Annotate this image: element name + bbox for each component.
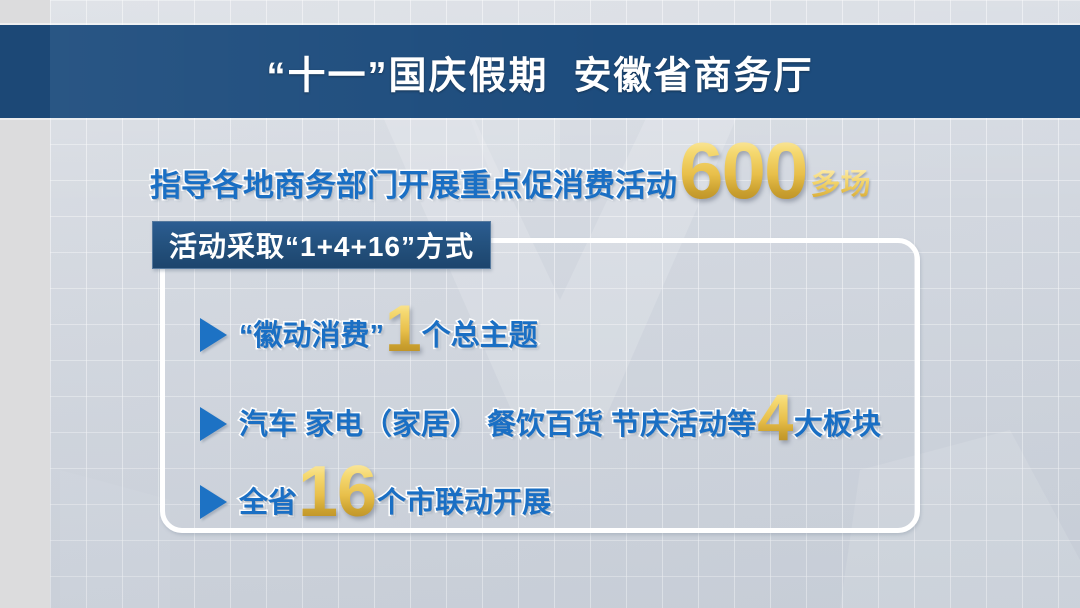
list-item-suffix: 个总主题 [422,322,538,356]
list-item: 全省 16 个市联动开展 [200,463,551,523]
list-item-number: 4 [757,389,793,445]
list-item-prefix: “徽动消费” [239,322,384,356]
list-item: “徽动消费” 1 个总主题 [200,296,538,356]
list-item-prefix: 汽车 家电（家居） 餐饮百货 节庆活动等 [239,411,756,445]
list-item-prefix: 全省 [239,489,297,523]
headline-number: 600 [679,137,806,205]
triangle-bullet-icon [200,318,227,352]
broadcast-graphic-screen: “十一”国庆假期 安徽省商务厅 指导各地商务部门开展重点促消费活动 600 多场… [0,0,1080,608]
section-tag: 活动采取“1+4+16”方式 [152,221,491,269]
headline-row: 指导各地商务部门开展重点促消费活动 600 多场 [150,143,970,205]
page-title: “十一”国庆假期 安徽省商务厅 [0,44,1080,99]
list-item: 汽车 家电（家居） 餐饮百货 节庆活动等 4 大板块 [200,385,881,445]
list-item-number: 16 [298,462,376,523]
list-item-number: 1 [385,300,421,356]
list-item-suffix: 个市联动开展 [377,489,551,523]
title-bar: “十一”国庆假期 安徽省商务厅 [0,25,1080,118]
triangle-bullet-icon [200,485,227,519]
triangle-bullet-icon [200,407,227,441]
list-item-suffix: 大板块 [794,411,881,445]
headline-tail-text: 多场 [810,170,870,205]
headline-lead-text: 指导各地商务部门开展重点促消费活动 [150,170,677,205]
